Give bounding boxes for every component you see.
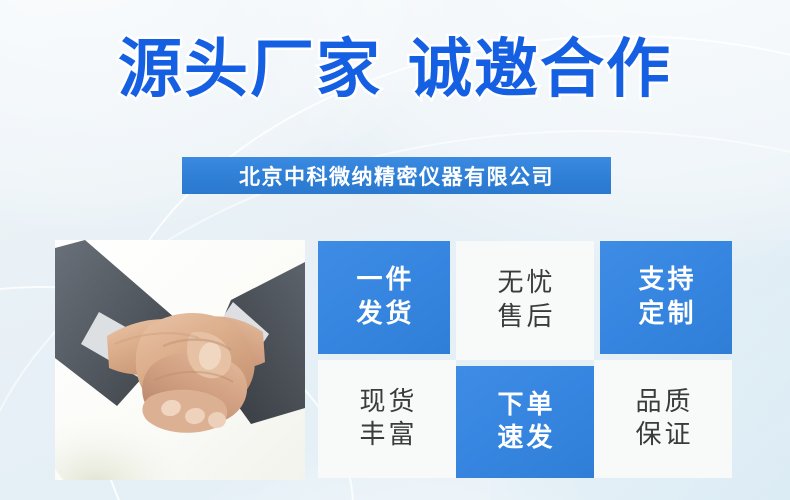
feature-line-1: 下单 [494,389,555,422]
headline: 源头厂家诚邀合作 [0,38,790,102]
feature-line-2: 发货 [353,298,414,331]
feature-cell-customization-supported[interactable]: 支持 定制 [600,241,732,354]
feature-line-2: 速发 [494,422,555,455]
feature-line-2: 保证 [632,419,693,452]
headline-part-2: 诚邀合作 [408,33,672,107]
company-name-bar: 北京中科微纳精密仪器有限公司 [182,157,611,194]
feature-cell-ample-stock[interactable]: 现货 丰富 [318,360,456,478]
feature-cell-quality-guaranteed[interactable]: 品质 保证 [594,360,732,478]
feature-line-2: 定制 [635,298,696,331]
feature-line-1: 无忧 [494,267,555,300]
promo-banner: 源头厂家诚邀合作 北京中科微纳精密仪器有限公司 [0,0,790,500]
handshake-illustration [55,240,305,480]
feature-line-2: 丰富 [356,419,417,452]
feature-line-1: 品质 [632,386,693,419]
feature-line-1: 现货 [356,386,417,419]
feature-cell-fast-dispatch[interactable]: 下单 速发 [456,366,594,478]
feature-cell-worry-free-after-sales[interactable]: 无忧 售后 [456,241,594,360]
feature-line-1: 支持 [635,264,696,297]
feature-line-2: 售后 [494,301,555,334]
feature-line-1: 一件 [353,264,414,297]
feature-grid: 一件 发货 无忧 售后 支持 定制 现货 丰富 下单 速发 品质 保证 [318,241,732,478]
handshake-photo [55,240,305,480]
feature-cell-one-piece-shipping[interactable]: 一件 发货 [318,241,450,354]
company-name: 北京中科微纳精密仪器有限公司 [239,161,554,191]
headline-part-1: 源头厂家 [118,33,382,107]
